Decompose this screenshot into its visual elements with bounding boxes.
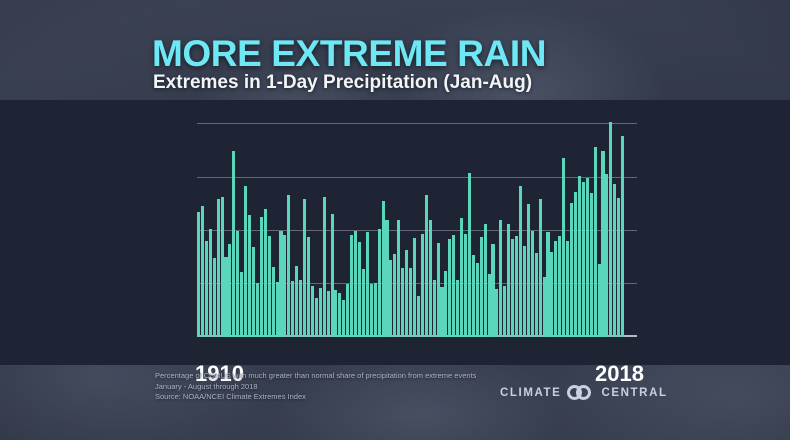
bar-1916	[221, 197, 224, 337]
bar-2014	[605, 174, 608, 337]
bar-2011	[594, 147, 597, 337]
bar-1927	[264, 209, 267, 337]
bar-1984	[488, 274, 491, 337]
bar-1998	[543, 277, 546, 337]
chart-panel: 0%5%10%15%20% 1910 2018	[0, 100, 790, 365]
bar-2013	[601, 151, 604, 337]
bar-2007	[578, 176, 581, 337]
bar-1945	[334, 290, 337, 337]
bar-1944	[331, 214, 334, 337]
bar-1968	[425, 195, 428, 337]
bar-1967	[421, 234, 424, 337]
footnote-line-3: Source: NOAA/NCEI Climate Extremes Index	[155, 392, 476, 403]
bar-1982	[480, 237, 483, 337]
bar-1996	[535, 253, 538, 337]
bar-1990	[511, 239, 514, 337]
bar-1946	[338, 293, 341, 337]
header: MORE EXTREME RAIN Extremes in 1-Day Prec…	[0, 0, 790, 100]
footer: Percentage of CONUS with much greater th…	[0, 365, 790, 440]
plot-area: 0%5%10%15%20% 1910 2018	[197, 119, 625, 337]
bar-1955	[374, 283, 377, 337]
bar-1971	[437, 243, 440, 337]
bar-1997	[539, 199, 542, 337]
bar-1919	[232, 151, 235, 337]
bar-1954	[370, 284, 373, 337]
bar-1935	[295, 266, 298, 337]
footnote-line-2: January - August through 2018	[155, 382, 476, 393]
bar-1980	[472, 255, 475, 337]
bar-1989	[507, 224, 510, 337]
bar-1942	[323, 197, 326, 337]
bar-1961	[397, 220, 400, 337]
bar-1911	[201, 206, 204, 337]
bar-1958	[385, 220, 388, 337]
bar-1969	[429, 220, 432, 337]
bar-1995	[531, 231, 534, 337]
bar-1934	[291, 281, 294, 337]
bar-1965	[413, 238, 416, 337]
page-title: MORE EXTREME RAIN	[152, 33, 546, 75]
bar-1994	[527, 204, 530, 337]
bar-2010	[590, 193, 593, 337]
bar-1928	[268, 236, 271, 337]
bar-1987	[499, 220, 502, 337]
bar-1964	[409, 268, 412, 337]
bar-2004	[566, 241, 569, 337]
bar-1938	[307, 237, 310, 337]
bar-1988	[503, 286, 506, 337]
bar-1921	[240, 272, 243, 337]
bar-1917	[224, 257, 227, 337]
bar-1979	[468, 173, 471, 337]
bar-1962	[401, 268, 404, 337]
bar-2001	[554, 241, 557, 337]
bar-2006	[574, 192, 577, 337]
interlocking-rings-icon	[567, 385, 595, 400]
bar-1983	[484, 224, 487, 337]
bar-1936	[299, 280, 302, 337]
bar-1939	[311, 286, 314, 337]
bar-1972	[440, 287, 443, 337]
bar-1999	[546, 232, 549, 337]
bar-1975	[452, 235, 455, 337]
bar-1910	[197, 212, 200, 337]
bar-1953	[366, 232, 369, 337]
bar-1976	[456, 280, 459, 337]
bar-1950	[354, 231, 357, 337]
bar-series	[197, 119, 625, 337]
climate-central-logo: CLIMATE CENTRAL	[500, 385, 668, 400]
bar-1912	[205, 241, 208, 337]
footnote: Percentage of CONUS with much greater th…	[155, 371, 476, 403]
bar-1947	[342, 300, 345, 337]
bar-1925	[256, 283, 259, 337]
bar-2003	[562, 158, 565, 337]
bar-1923	[248, 215, 251, 337]
bar-2012	[598, 264, 601, 337]
bar-1986	[495, 289, 498, 337]
bar-1920	[236, 231, 239, 337]
infographic-page: MORE EXTREME RAIN Extremes in 1-Day Prec…	[0, 0, 790, 440]
bar-2002	[558, 236, 561, 337]
bar-1991	[515, 236, 518, 337]
bar-1943	[327, 291, 330, 337]
bar-1914	[213, 258, 216, 337]
bar-1948	[346, 284, 349, 337]
bar-2018	[621, 136, 624, 337]
logo-word-left: CLIMATE	[500, 387, 561, 399]
bar-1966	[417, 296, 420, 337]
bar-1993	[523, 246, 526, 337]
footnote-line-1: Percentage of CONUS with much greater th…	[155, 371, 476, 382]
bar-2017	[617, 198, 620, 337]
bar-1940	[315, 298, 318, 337]
bar-1941	[319, 288, 322, 337]
bar-2016	[613, 184, 616, 337]
bar-1926	[260, 217, 263, 337]
bar-1929	[272, 267, 275, 337]
bar-1952	[362, 269, 365, 337]
bar-1960	[393, 254, 396, 337]
bar-1931	[279, 231, 282, 337]
bar-1933	[287, 195, 290, 337]
bar-1970	[433, 280, 436, 337]
bar-1981	[476, 263, 479, 337]
bar-2008	[582, 182, 585, 337]
bar-1977	[460, 218, 463, 337]
bar-1915	[217, 199, 220, 337]
bar-1951	[358, 242, 361, 337]
bar-1974	[448, 239, 451, 337]
bar-1985	[491, 244, 494, 337]
bar-1913	[209, 229, 212, 337]
bar-1957	[382, 201, 385, 337]
bar-1924	[252, 247, 255, 337]
bar-1918	[228, 244, 231, 337]
bar-2015	[609, 122, 612, 337]
bar-1973	[444, 271, 447, 337]
bar-1959	[389, 260, 392, 337]
bar-1937	[303, 199, 306, 337]
bar-1963	[405, 250, 408, 337]
bar-2000	[550, 252, 553, 337]
page-subtitle: Extremes in 1-Day Precipitation (Jan-Aug…	[153, 72, 532, 94]
bar-1956	[378, 229, 381, 337]
bar-1978	[464, 234, 467, 337]
bar-1949	[350, 235, 353, 337]
bar-1992	[519, 186, 522, 337]
bar-1932	[283, 235, 286, 337]
logo-word-right: CENTRAL	[601, 387, 667, 399]
bar-1922	[244, 186, 247, 337]
bar-1930	[276, 282, 279, 337]
bar-2009	[586, 178, 589, 338]
bar-2005	[570, 203, 573, 337]
